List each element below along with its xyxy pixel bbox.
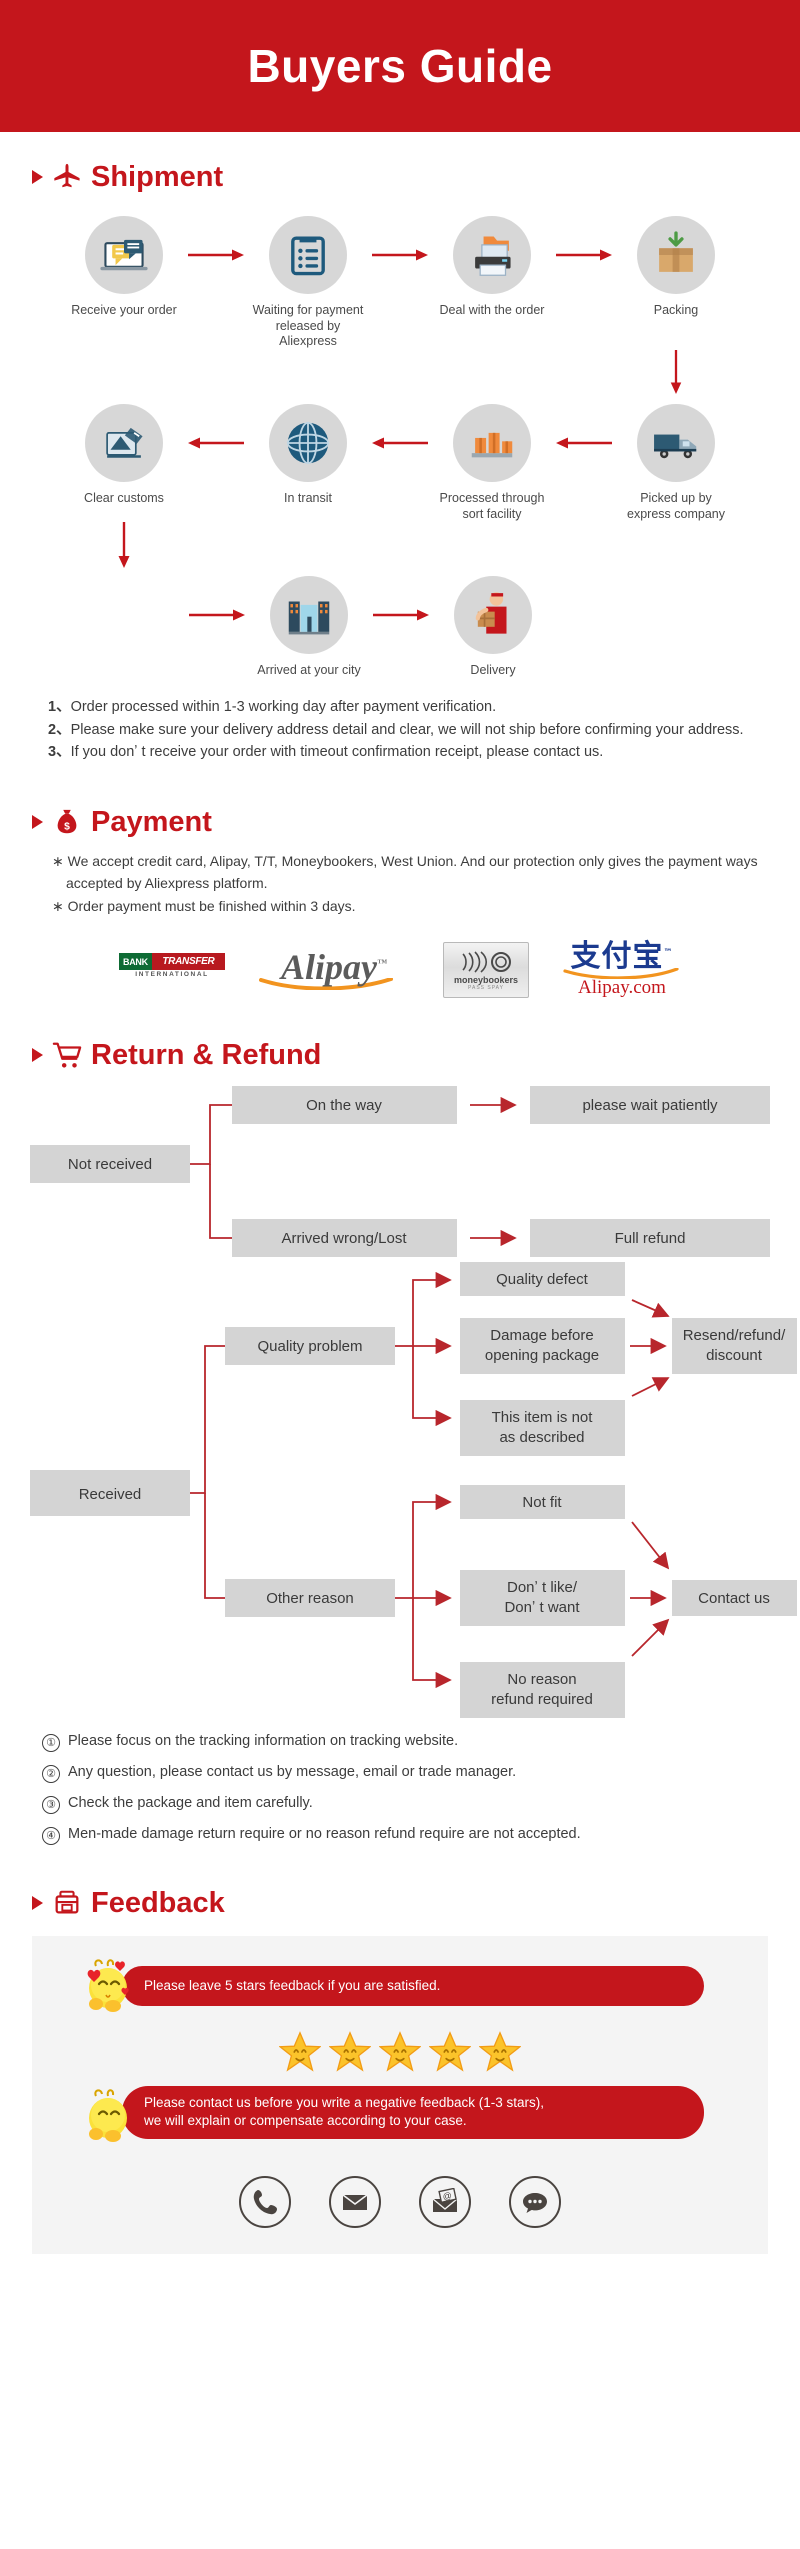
neutral-chick-icon <box>82 2084 148 2148</box>
flow-node-arrived-at-your-city: Arrived at your city <box>248 576 370 679</box>
flow-node-label: Packing <box>654 303 698 319</box>
sorting-boxes-icon <box>453 404 531 482</box>
return-note-2: ②Any question, please contact us by mess… <box>42 1765 760 1783</box>
flow-node-label: Receive your order <box>71 303 177 319</box>
shipment-flow-row-1: Receive your order Waiting for paymentre… <box>0 216 800 350</box>
feedback-negative-row: Please contact us before you write a neg… <box>56 2082 744 2154</box>
flow-node-label: Processed throughsort facility <box>440 491 545 522</box>
section-label: Payment <box>91 808 212 837</box>
flow-box-label: please wait patiently <box>582 1097 718 1114</box>
city-buildings-icon <box>270 576 348 654</box>
payment-bullet-2: ∗ Order payment must be finished within … <box>52 896 760 918</box>
flow-box-label: Quality defect <box>496 1271 589 1288</box>
section-header-return-refund: Return & Refund <box>0 1040 800 1070</box>
star-icon <box>479 2030 521 2072</box>
printer-folder-icon <box>453 216 531 294</box>
shipment-flow-diagram: Receive your order Waiting for paymentre… <box>0 192 800 679</box>
alipay-wordmark: Alipay <box>281 947 377 987</box>
flow-node-label: Arrived at your city <box>257 663 361 679</box>
alipay-logo: Alipay™ <box>259 950 409 990</box>
flow-box-label: On the way <box>306 1097 382 1114</box>
flow-node-label: In transit <box>284 491 332 507</box>
section-label: Return & Refund <box>91 1041 321 1070</box>
triangle-bullet-icon <box>32 1896 43 1910</box>
arrow-right-icon <box>369 216 431 294</box>
section-label: Feedback <box>91 1889 225 1918</box>
feedback-positive-banner: Please leave 5 stars feedback if you are… <box>122 1966 704 2006</box>
flow-box-label: Other reason <box>266 1590 354 1607</box>
mailbox-icon <box>52 1888 82 1918</box>
star-icon <box>379 2030 421 2072</box>
shipment-flow-row-3: Arrived at your city Delivery <box>0 576 800 679</box>
return-note-1: ①Please focus on the tracking informatio… <box>42 1734 760 1752</box>
page-title: Buyers Guide <box>247 39 552 93</box>
return-note-4: ④Men-made damage return require or no re… <box>42 1827 760 1845</box>
arrow-down-icon <box>615 350 737 394</box>
flow-node-packing: Packing <box>615 216 737 319</box>
payment-bullets: ∗ We accept credit card, Alipay, T/T, Mo… <box>0 837 800 918</box>
section-header-payment: $ Payment <box>0 807 800 837</box>
flow-box-label: Not received <box>68 1156 152 1173</box>
phone-icon <box>251 2188 279 2216</box>
section-header-shipment: Shipment <box>0 162 800 192</box>
arrow-left-icon <box>185 404 247 482</box>
bank-transfer-logo: BANK TRANSFER INTERNATIONAL <box>119 953 225 987</box>
arrow-right-icon <box>553 216 615 294</box>
shipment-note-3: 3、If you donʼ t receive your order with … <box>48 742 760 764</box>
envelope-icon <box>341 2188 369 2216</box>
flow-box-label: Quality problem <box>257 1338 362 1355</box>
feedback-positive-row: Please leave 5 stars feedback if you are… <box>56 1954 744 2018</box>
airplane-icon <box>52 162 82 192</box>
chat-bubble-icon-button[interactable] <box>509 2176 561 2228</box>
flow-node-clear-customs: Clear customs <box>63 404 185 507</box>
flow-node-waiting-for-payment: Waiting for paymentreleased by Aliexpres… <box>247 216 369 350</box>
alipay-cn-domain: Alipay.com <box>578 978 666 998</box>
flow-box-label: Resend/refund/ <box>683 1327 786 1344</box>
arrow-right-icon <box>185 216 247 294</box>
star-rating <box>32 2018 768 2082</box>
feedback-panel: Please leave 5 stars feedback if you are… <box>32 1936 768 2254</box>
section-label: Shipment <box>91 163 223 192</box>
flow-box-label: Donʼ t want <box>504 1599 580 1616</box>
triangle-bullet-icon <box>32 1048 43 1062</box>
shipment-flow-row-2: Clear customs In transit <box>0 404 800 522</box>
arrow-left-icon <box>369 404 431 482</box>
flow-node-receive-your-order: Receive your order <box>63 216 185 319</box>
flow-box-label: Donʼ t like/ <box>507 1579 578 1596</box>
envelope-icon-button[interactable] <box>329 2176 381 2228</box>
flow-node-label: Picked up byexpress company <box>627 491 725 522</box>
star-icon <box>329 2030 371 2072</box>
globe-icon <box>269 404 347 482</box>
shipment-notes: 1、Order processed within 1-3 working day… <box>0 679 800 764</box>
flow-box-label: Contact us <box>698 1590 770 1607</box>
bank-transfer-secondary: TRANSFER <box>152 953 225 970</box>
flow-node-label: Delivery <box>470 663 515 679</box>
shipment-note-1: 1、Order processed within 1-3 working day… <box>48 697 760 719</box>
star-icon <box>279 2030 321 2072</box>
flowchart-not-received: Not received On the way please wait pati… <box>0 1070 800 1260</box>
arrow-right-icon <box>370 576 432 654</box>
flow-box-label: Received <box>79 1486 142 1503</box>
email-at-icon: @ <box>431 2188 459 2216</box>
shipment-note-2: 2、Please make sure your delivery address… <box>48 720 760 742</box>
flow-box-label: This item is not <box>492 1409 594 1426</box>
star-icon <box>429 2030 471 2072</box>
moneybookers-sub: PASS SPAY <box>468 985 504 991</box>
flow-node-label: Clear customs <box>84 491 164 507</box>
feedback-negative-line1: Please contact us before you write a neg… <box>144 2094 544 2112</box>
flow-node-picked-up-express: Picked up byexpress company <box>615 404 737 522</box>
happy-chick-icon <box>82 1954 148 2018</box>
arrow-down-icon <box>63 522 185 568</box>
flow-node-in-transit: In transit <box>247 404 369 507</box>
bank-transfer-sub: INTERNATIONAL <box>119 971 225 978</box>
moneybookers-waves-icon <box>457 950 515 974</box>
flow-box-label: No reason <box>507 1671 576 1688</box>
box-download-icon <box>637 216 715 294</box>
courier-icon <box>454 576 532 654</box>
moneybookers-logo: moneybookers PASS SPAY <box>443 942 529 998</box>
payment-bullet-1: ∗ We accept credit card, Alipay, T/T, Mo… <box>52 851 760 894</box>
svg-text:$: $ <box>64 822 70 833</box>
triangle-bullet-icon <box>32 815 43 829</box>
phone-icon-button[interactable] <box>239 2176 291 2228</box>
moneybookers-wordmark: moneybookers <box>454 975 518 985</box>
delivery-truck-icon <box>637 404 715 482</box>
flow-node-delivery: Delivery <box>432 576 554 679</box>
flow-box-label: Not fit <box>522 1494 562 1511</box>
feedback-negative-banner: Please contact us before you write a neg… <box>122 2086 704 2138</box>
flowchart-received: Received Quality problem Quality defect … <box>0 1260 800 1720</box>
laptop-chat-icon <box>85 216 163 294</box>
flow-box-label: Arrived wrong/Lost <box>281 1230 407 1247</box>
money-bag-icon: $ <box>52 807 82 837</box>
page-header: Buyers Guide <box>0 0 800 132</box>
flow-node-deal-with-order: Deal with the order <box>431 216 553 319</box>
flow-box-label: as described <box>499 1429 584 1446</box>
contact-icons: @ <box>32 2154 768 2228</box>
clipboard-icon <box>269 216 347 294</box>
triangle-bullet-icon <box>32 170 43 184</box>
shopping-cart-icon <box>52 1040 82 1070</box>
flow-node-processed-sort-facility: Processed throughsort facility <box>431 404 553 522</box>
customs-stamp-icon <box>85 404 163 482</box>
arrow-right-icon <box>186 576 248 654</box>
bank-transfer-primary: BANK <box>119 953 152 970</box>
payment-logos: BANK TRANSFER INTERNATIONAL Alipay™ <box>0 920 800 998</box>
section-header-feedback: Feedback <box>0 1888 800 1918</box>
chat-bubble-icon <box>521 2188 549 2216</box>
flow-box-label: Damage before <box>490 1327 593 1344</box>
email-at-icon-button[interactable]: @ <box>419 2176 471 2228</box>
alipay-cn-logo: 支付宝™ Alipay.com <box>563 942 681 998</box>
arrow-left-icon <box>553 404 615 482</box>
flow-box-label: refund required <box>491 1691 593 1708</box>
feedback-negative-line2: we will explain or compensate according … <box>144 2112 544 2130</box>
flow-box-label: Full refund <box>615 1230 686 1247</box>
flow-box-label: discount <box>706 1347 763 1364</box>
flow-node-label: Waiting for paymentreleased by Aliexpres… <box>247 303 369 350</box>
flow-node-label: Deal with the order <box>440 303 545 319</box>
return-notes: ①Please focus on the tracking informatio… <box>0 1720 800 1845</box>
flow-box-label: opening package <box>485 1347 599 1364</box>
return-note-3: ③Check the package and item carefully. <box>42 1796 760 1814</box>
